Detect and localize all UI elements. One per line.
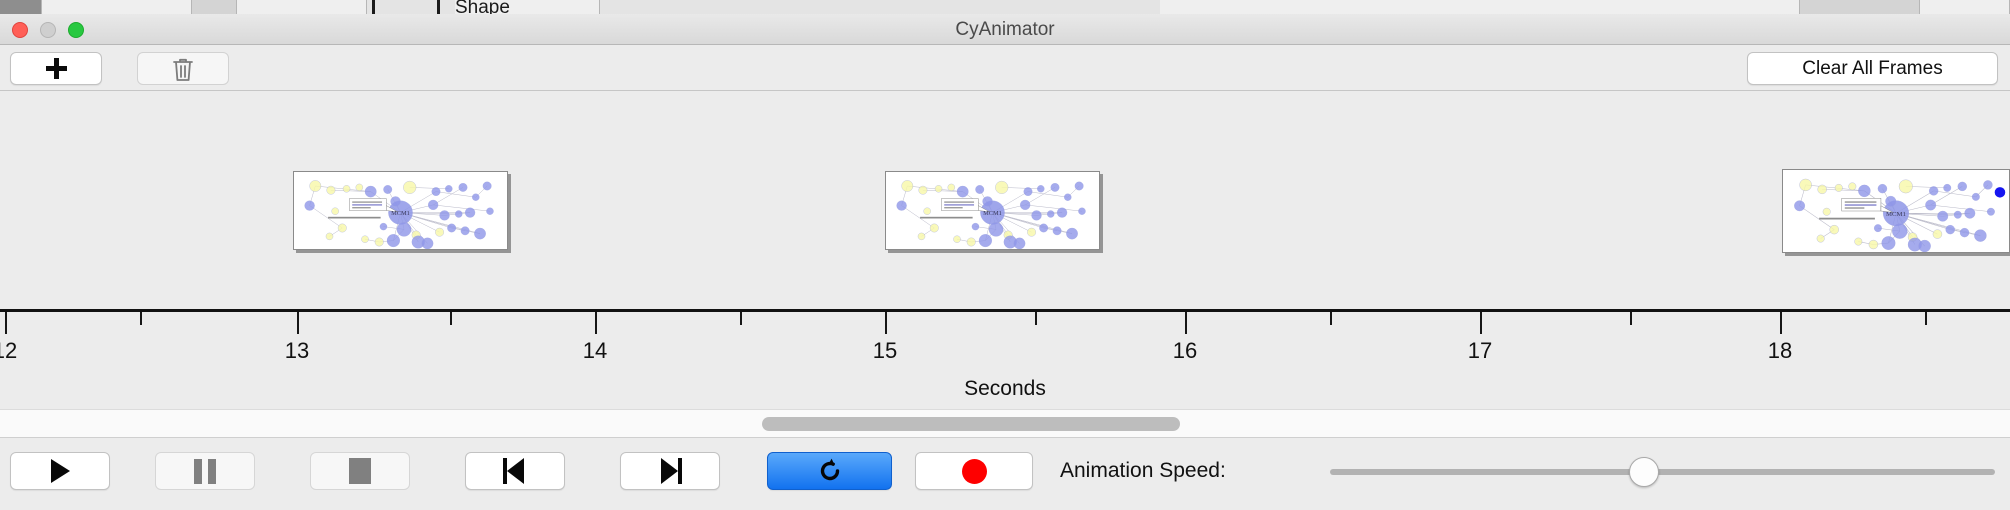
ruler-tick-label: 17 — [1468, 338, 1492, 364]
bg-chunk — [1800, 0, 1920, 14]
ruler-tick-minor — [450, 312, 452, 325]
bg-chunk — [1920, 0, 2010, 14]
loop-button[interactable] — [767, 452, 892, 490]
timeline-frame[interactable]: MCM1 — [1782, 169, 2010, 253]
background-window-strip: Shape — [0, 0, 2010, 14]
ruler-tick-label: 14 — [583, 338, 607, 364]
ruler-tick-major — [1780, 312, 1782, 334]
loop-icon — [815, 456, 845, 486]
background-window-label: Shape — [455, 0, 510, 14]
last-frame-button[interactable] — [620, 452, 720, 490]
animation-speed-label: Animation Speed: — [1060, 452, 1226, 490]
ruler-tick-label: 13 — [285, 338, 309, 364]
play-icon — [51, 459, 70, 483]
bg-chunk — [237, 0, 367, 14]
cyanimator-window: Shape CyAnimator Clear All Frames MCM1MC… — [0, 0, 2010, 510]
bg-chunk — [192, 0, 237, 14]
svg-text:MCM1: MCM1 — [1886, 211, 1906, 218]
ruler-tick-label: 15 — [873, 338, 897, 364]
ruler-tick-label: 12 — [0, 338, 17, 364]
pause-icon — [194, 459, 216, 484]
ruler-tick-major — [1185, 312, 1187, 334]
bg-chunk — [42, 0, 192, 14]
ruler-line — [0, 309, 2010, 312]
bg-chunk — [0, 0, 42, 14]
animation-speed-slider[interactable] — [1330, 469, 1995, 475]
stop-icon — [349, 458, 371, 484]
clear-all-frames-button[interactable]: Clear All Frames — [1747, 52, 1998, 85]
page-title: CyAnimator — [0, 14, 2010, 45]
skip-previous-icon — [503, 458, 527, 484]
delete-frame-button[interactable] — [137, 52, 229, 85]
record-button[interactable] — [915, 452, 1033, 490]
ruler-tick-minor — [140, 312, 142, 325]
svg-text:MCM1: MCM1 — [983, 210, 1002, 217]
bg-tab-mark — [437, 0, 440, 14]
play-button[interactable] — [10, 452, 110, 490]
ruler-tick-major — [297, 312, 299, 334]
ruler-tick-minor — [1330, 312, 1332, 325]
bg-tab-mark — [372, 0, 375, 14]
plus-icon — [46, 58, 67, 79]
axis-title: Seconds — [0, 377, 2010, 401]
network-thumbnail: MCM1 — [886, 172, 1099, 249]
ruler-tick-major — [885, 312, 887, 334]
frames-area: MCM1MCM1MCM1 — [0, 91, 2010, 309]
toolbar: Clear All Frames — [0, 45, 2010, 91]
ruler-tick-minor — [1630, 312, 1632, 325]
ruler-tick-minor — [740, 312, 742, 325]
clear-all-frames-label: Clear All Frames — [1802, 58, 1942, 80]
ruler-tick-label: 18 — [1768, 338, 1792, 364]
network-thumbnail: MCM1 — [1783, 170, 2009, 252]
stop-button[interactable] — [310, 452, 410, 490]
svg-text:MCM1: MCM1 — [391, 210, 410, 217]
first-frame-button[interactable] — [465, 452, 565, 490]
add-frame-button[interactable] — [10, 52, 102, 85]
record-icon — [962, 459, 987, 484]
ruler-tick-label: 16 — [1173, 338, 1197, 364]
titlebar: CyAnimator — [0, 14, 2010, 45]
animation-speed-thumb[interactable] — [1629, 457, 1659, 487]
ruler-tick-minor — [1925, 312, 1927, 325]
transport-bar: Animation Speed: — [0, 437, 2010, 510]
timeline-panel: MCM1MCM1MCM1 12131415161718 Seconds — [0, 91, 2010, 409]
network-thumbnail: MCM1 — [294, 172, 507, 249]
ruler-tick-minor — [1035, 312, 1037, 325]
pause-button[interactable] — [155, 452, 255, 490]
timeline-ruler: 12131415161718 Seconds — [0, 309, 2010, 409]
ruler-tick-major — [5, 312, 7, 334]
scrollbar-thumb[interactable] — [762, 417, 1180, 431]
horizontal-scrollbar[interactable] — [0, 409, 2010, 437]
ruler-tick-major — [1480, 312, 1482, 334]
ruler-tick-major — [595, 312, 597, 334]
timeline-frame[interactable]: MCM1 — [885, 171, 1100, 250]
bg-chunk — [1160, 0, 1800, 14]
trash-icon — [171, 56, 195, 82]
skip-next-icon — [658, 458, 682, 484]
timeline-frame[interactable]: MCM1 — [293, 171, 508, 250]
